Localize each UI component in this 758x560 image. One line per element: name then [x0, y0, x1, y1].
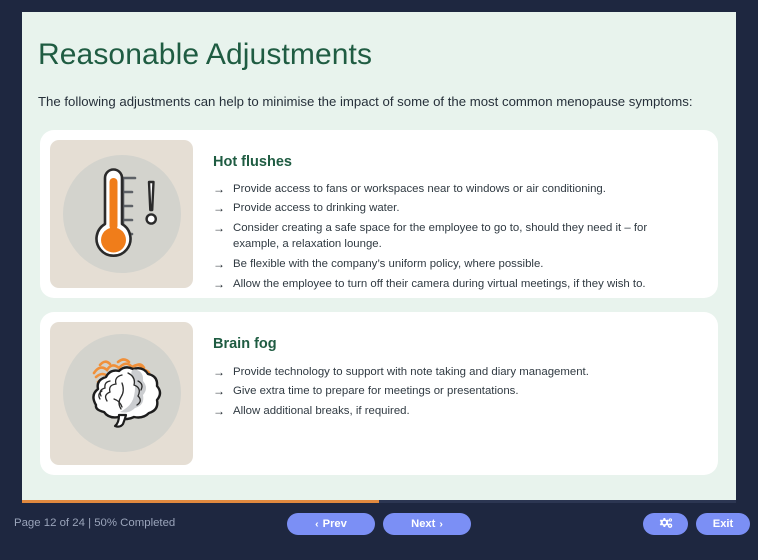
prev-button-label: Prev [323, 518, 347, 530]
bullet-text: Allow the employee to turn off their cam… [233, 276, 692, 292]
prev-button[interactable]: ‹ Prev [287, 513, 375, 535]
card-heading: Hot flushes [213, 154, 692, 170]
next-button[interactable]: Next › [383, 513, 471, 535]
arrow-right-icon: → [213, 200, 224, 216]
bullet-item: → Allow additional breaks, if required. [213, 403, 692, 419]
bullet-text: Provide access to drinking water. [233, 200, 692, 216]
bullet-text: Provide access to fans or workspaces nea… [233, 181, 692, 197]
bullet-item: → Provide access to fans or workspaces n… [213, 181, 692, 197]
bullet-text: Allow additional breaks, if required. [233, 403, 692, 419]
right-navigation: Exit [643, 513, 750, 535]
next-button-label: Next [411, 518, 435, 530]
player-bottom-bar: Page 12 of 24 | 50% Completed ‹ Prev Nex… [0, 500, 758, 560]
bullet-item: → Allow the employee to turn off their c… [213, 276, 692, 292]
page-status-text: Page 12 of 24 | 50% Completed [14, 517, 175, 529]
card-media-hot-flushes [50, 140, 193, 288]
intro-paragraph: The following adjustments can help to mi… [22, 93, 736, 111]
bullet-text: Provide technology to support with note … [233, 364, 692, 380]
progress-fill [22, 500, 379, 503]
center-navigation: ‹ Prev Next › [287, 513, 471, 535]
card-body-hot-flushes: Hot flushes → Provide access to fans or … [207, 140, 708, 296]
bullet-text: Give extra time to prepare for meetings … [233, 383, 692, 399]
brain-fog-icon [72, 343, 172, 443]
card-body-brain-fog: Brain fog → Provide technology to suppor… [207, 322, 708, 423]
media-circle [63, 155, 181, 273]
arrow-right-icon: → [213, 364, 224, 380]
card-media-brain-fog [50, 322, 193, 465]
arrow-right-icon: → [213, 276, 224, 292]
arrow-right-icon: → [213, 181, 224, 197]
bullet-item: → Give extra time to prepare for meeting… [213, 383, 692, 399]
bullet-item: → Provide technology to support with not… [213, 364, 692, 380]
thermometer-alert-icon [79, 162, 165, 266]
arrow-right-icon: → [213, 403, 224, 419]
chevron-left-icon: ‹ [315, 518, 319, 530]
chevron-right-icon: › [439, 518, 443, 530]
bullet-text: Be flexible with the company’s uniform p… [233, 256, 692, 272]
adjustment-card-brain-fog: Brain fog → Provide technology to suppor… [40, 312, 718, 475]
arrow-right-icon: → [213, 383, 224, 399]
bullet-item: → Consider creating a safe space for the… [213, 220, 692, 252]
exit-button[interactable]: Exit [696, 513, 750, 535]
adjustment-card-hot-flushes: Hot flushes → Provide access to fans or … [40, 130, 718, 298]
card-heading: Brain fog [213, 336, 692, 352]
slide-stage: Reasonable Adjustments The following adj… [22, 12, 736, 500]
media-circle [63, 334, 181, 452]
slide-content-scroll[interactable]: Reasonable Adjustments The following adj… [22, 12, 736, 500]
settings-button[interactable] [643, 513, 688, 535]
bullet-item: → Provide access to drinking water. [213, 200, 692, 216]
arrow-right-icon: → [213, 256, 224, 272]
page-title: Reasonable Adjustments [22, 38, 736, 73]
bullet-item: → Be flexible with the company’s uniform… [213, 256, 692, 272]
bullet-text: Consider creating a safe space for the e… [233, 220, 692, 252]
progress-track[interactable] [22, 500, 736, 503]
arrow-right-icon: → [213, 220, 224, 236]
bullet-list-brain-fog: → Provide technology to support with not… [213, 364, 692, 420]
bullet-list-hot-flushes: → Provide access to fans or workspaces n… [213, 181, 692, 292]
gear-icon [657, 517, 674, 531]
exit-button-label: Exit [713, 518, 734, 530]
